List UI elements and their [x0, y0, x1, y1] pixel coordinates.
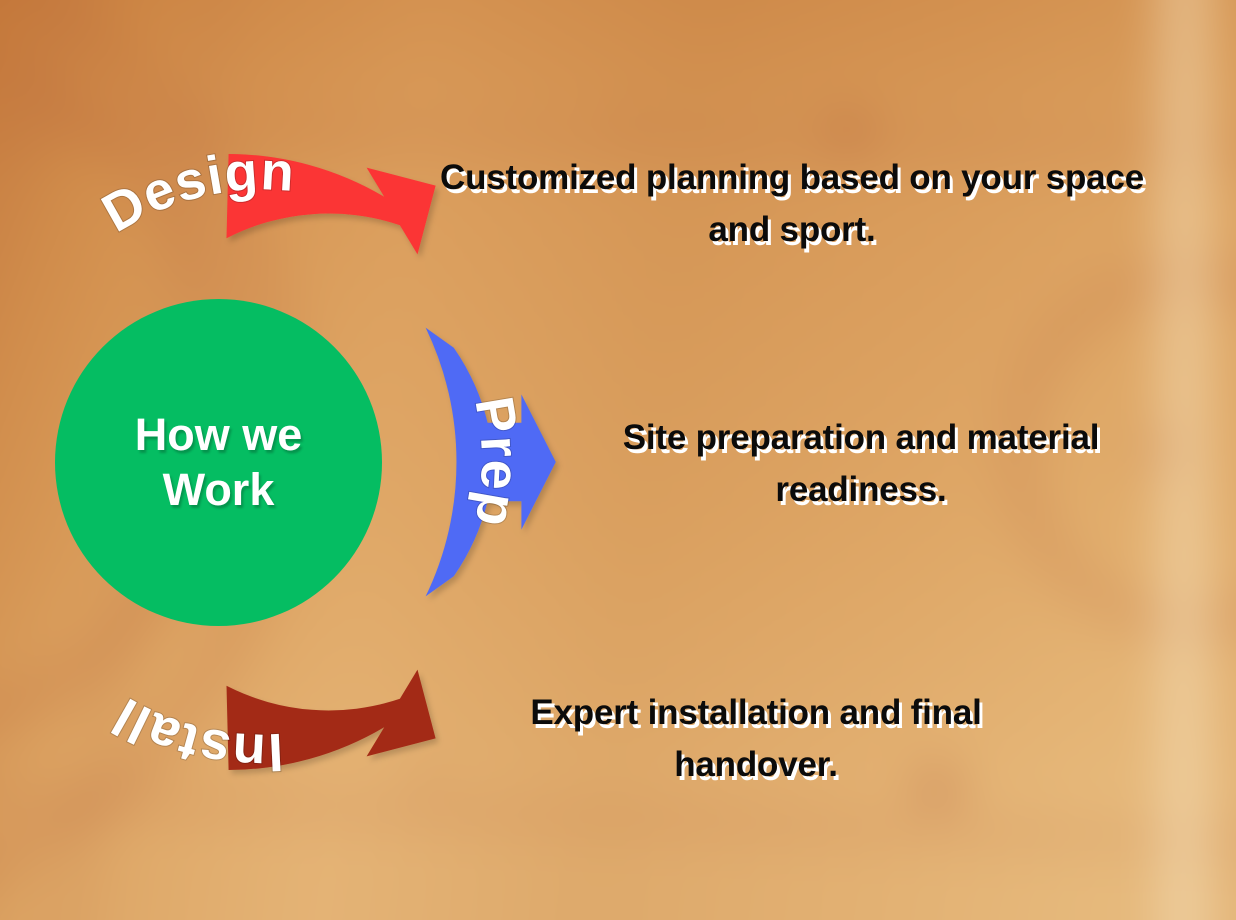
- hub-label: How we Work: [135, 408, 303, 518]
- process-step-prep[interactable]: Prep: [426, 328, 556, 597]
- design-arc-label: Design: [92, 141, 296, 244]
- infographic-canvas: Design Prep Install How we Work Customiz…: [0, 0, 1236, 920]
- process-step-install[interactable]: Install: [102, 670, 435, 783]
- process-step-design[interactable]: Design: [92, 141, 435, 254]
- prep-description: Site preparation and material readiness.: [611, 412, 1111, 516]
- center-hub[interactable]: How we Work: [55, 299, 382, 626]
- install-description: Expert installation and final handover.: [470, 687, 1042, 791]
- design-description: Customized planning based on your space …: [437, 152, 1147, 256]
- prep-arc-label: Prep: [463, 392, 530, 531]
